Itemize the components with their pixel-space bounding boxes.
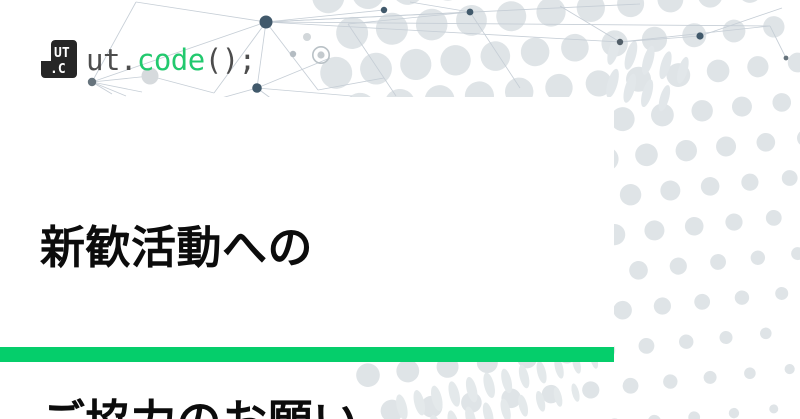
- network-node: [467, 9, 474, 16]
- headline-line-2: ご協力のお願い: [40, 393, 359, 419]
- wordmark-prefix: ut.: [86, 43, 137, 77]
- headline-line-1: 新歓活動への: [40, 219, 359, 277]
- network-ring-core: [317, 51, 324, 58]
- network-node: [260, 16, 273, 29]
- network-node: [617, 39, 623, 45]
- network-node: [88, 78, 96, 86]
- poster-canvas: UT .C ut.code(); 新歓活動への ご協力のお願い: [0, 0, 800, 419]
- brand-lockup: UT .C ut.code();: [41, 40, 256, 78]
- page-title: 新歓活動への ご協力のお願い: [40, 103, 359, 419]
- network-node: [784, 56, 789, 61]
- wordmark-suffix: ();: [205, 43, 256, 77]
- network-node: [696, 32, 703, 39]
- network-node: [290, 51, 296, 57]
- network-node: [303, 33, 311, 41]
- network-node: [381, 7, 387, 13]
- brand-wordmark: ut.code();: [86, 46, 256, 75]
- utcode-logo-icon: UT .C: [41, 40, 77, 78]
- logo-top-text: UT: [54, 46, 70, 61]
- accent-rule: [0, 347, 614, 362]
- network-node: [252, 83, 262, 93]
- wordmark-accent: code: [137, 43, 205, 77]
- logo-bottom-text: .C: [50, 62, 66, 77]
